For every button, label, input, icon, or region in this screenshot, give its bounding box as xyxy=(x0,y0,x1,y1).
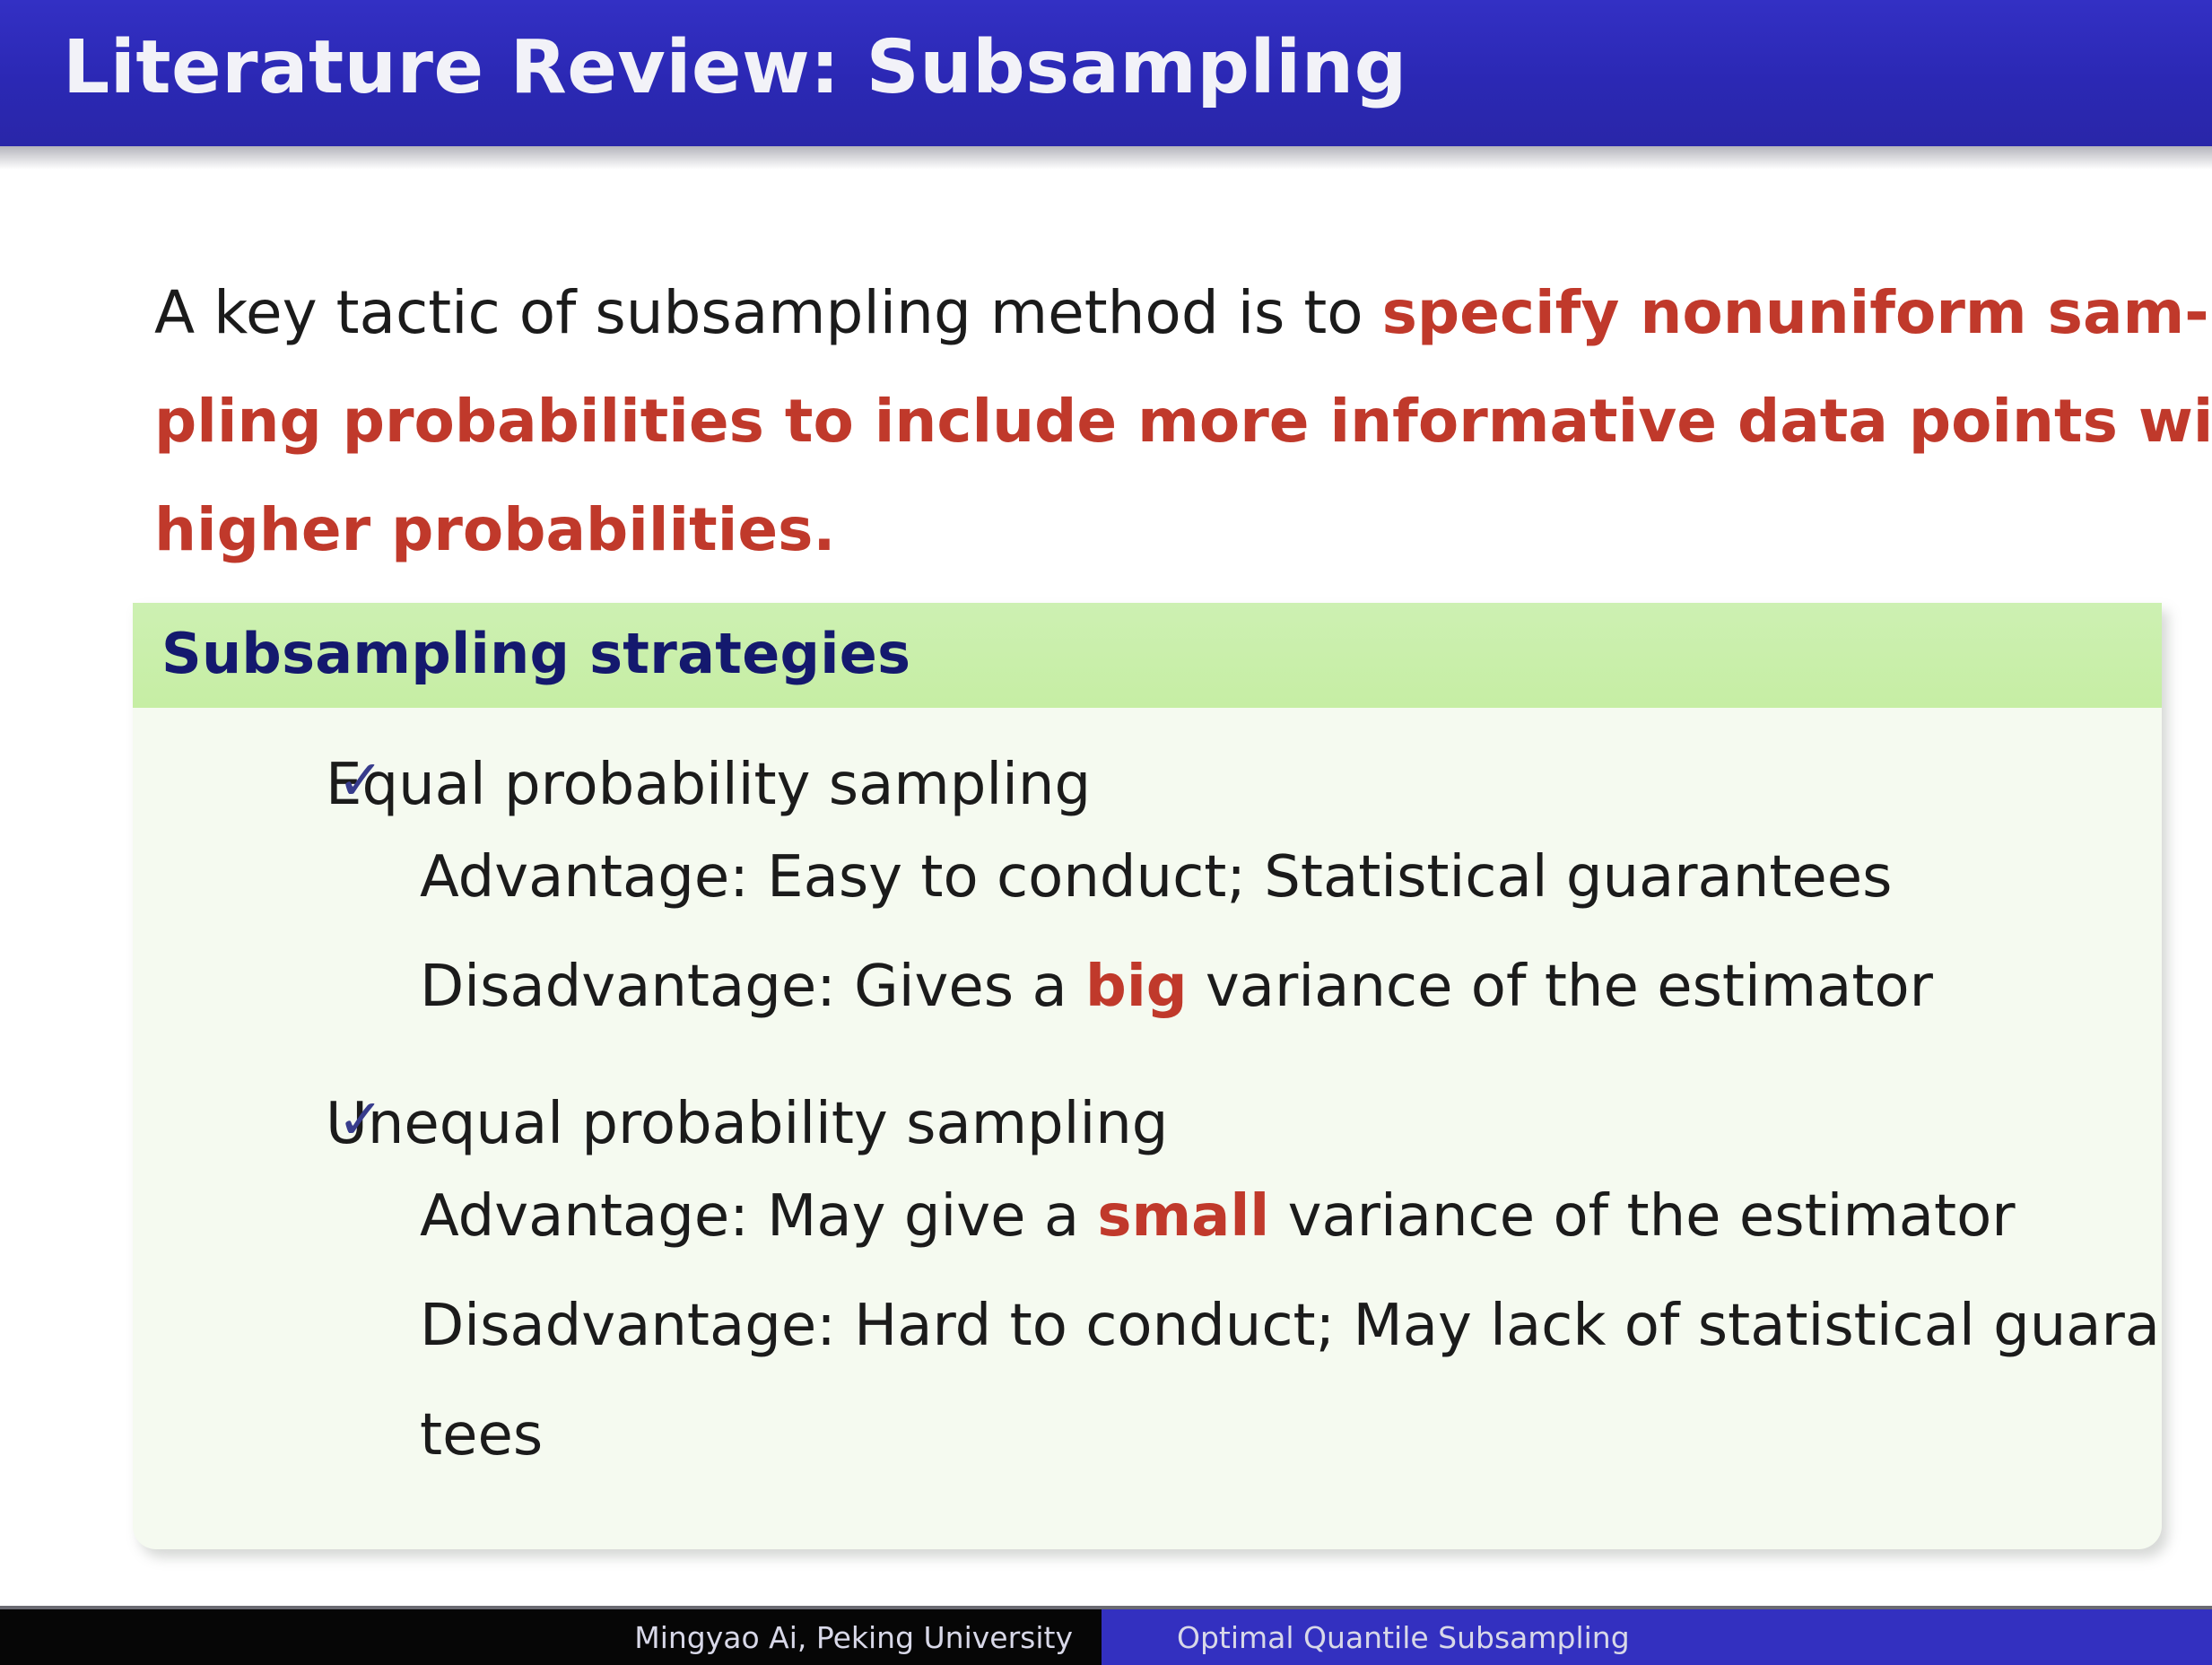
footer-author-text: Mingyao Ai, Peking University xyxy=(634,1620,1073,1655)
advantage-post-text: variance of the estimator xyxy=(1269,1183,2015,1250)
bullet-heading-text: Unequal probability sampling xyxy=(326,1086,1168,1162)
intro-highlight-3: higher probabilities. xyxy=(154,475,2155,584)
intro-line-1: A key tactic of subsampling method is to… xyxy=(154,258,2155,367)
disadvantage-post-text: variance of the estimator xyxy=(1188,954,1933,1020)
bullet-heading-text: Equal probability sampling xyxy=(326,747,1091,823)
bullet-heading-row: ✓ Equal probability sampling xyxy=(133,747,2162,823)
intro-paragraph: A key tactic of subsampling method is to… xyxy=(154,258,2155,584)
footer-talk-title-text: Optimal Quantile Subsampling xyxy=(1177,1620,1630,1655)
subsampling-strategies-block: Subsampling strategies ✓ Equal probabili… xyxy=(133,603,2162,1549)
bullet-heading-row: ✓ Unequal probability sampling xyxy=(133,1086,2162,1162)
advantage-highlight: small xyxy=(1097,1183,1269,1250)
disadvantage-pre-text: Disadvantage: Gives a xyxy=(420,954,1085,1020)
disadvantage-highlight: big xyxy=(1085,954,1188,1020)
check-icon: ✓ xyxy=(337,753,389,808)
page-title: Literature Review: Subsampling xyxy=(63,25,1407,110)
disadvantage-line: Disadvantage: Gives a big variance of th… xyxy=(420,932,2160,1042)
list-item: ✓ Unequal probability sampling Advantage… xyxy=(133,1086,2162,1490)
slide-footer: Mingyao Ai, Peking University Optimal Qu… xyxy=(0,1609,2212,1665)
block-header: Subsampling strategies xyxy=(133,603,2162,708)
advantage-pre-text: Advantage: May give a xyxy=(420,1183,1097,1250)
check-icon: ✓ xyxy=(337,1092,389,1147)
intro-plain-text: A key tactic of subsampling method is to xyxy=(154,278,1382,347)
slide-title-bar: Literature Review: Subsampling xyxy=(0,0,2212,146)
disadvantage-line-2: tees xyxy=(420,1381,2160,1490)
intro-highlight-2: pling probabilities to include more info… xyxy=(154,367,2155,475)
intro-highlight-1: specify nonuniform sam- xyxy=(1382,278,2209,347)
footer-title-section: Optimal Quantile Subsampling xyxy=(1102,1609,2212,1665)
list-item: ✓ Equal probability sampling Advantage: … xyxy=(133,747,2162,1042)
block-body: ✓ Equal probability sampling Advantage: … xyxy=(133,708,2162,1549)
disadvantage-line-1: Disadvantage: Hard to conduct; May lack … xyxy=(420,1271,2160,1381)
title-bar-shadow xyxy=(0,146,2212,170)
bullet-detail-advantage: Advantage: May give a small variance of … xyxy=(133,1162,2160,1490)
advantage-line: Advantage: May give a small variance of … xyxy=(420,1162,2160,1271)
block-title: Subsampling strategies xyxy=(161,621,2162,686)
footer-author-section: Mingyao Ai, Peking University xyxy=(0,1609,1102,1665)
advantage-line: Advantage: Easy to conduct; Statistical … xyxy=(420,823,2160,932)
bullet-detail-advantage: Advantage: Easy to conduct; Statistical … xyxy=(133,823,2160,1042)
